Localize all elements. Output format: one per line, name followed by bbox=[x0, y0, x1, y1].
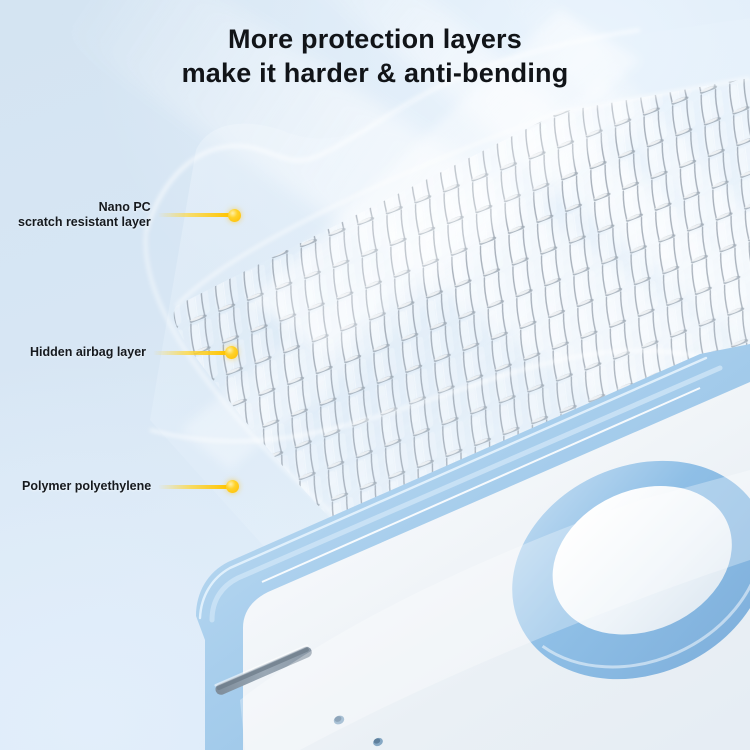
callout-polymer-polyethylene-text: Polymer polyethylene bbox=[22, 479, 151, 494]
callout-hidden-airbag-marker-dot bbox=[225, 346, 238, 359]
callout-hidden-airbag-line-1: Hidden airbag layer bbox=[30, 345, 146, 360]
callout-nano-pc: Nano PC scratch resistant layer bbox=[18, 200, 241, 230]
callout-polymer-polyethylene-leader-line bbox=[158, 485, 228, 489]
callout-polymer-polyethylene-marker-dot bbox=[226, 480, 239, 493]
background-gradient bbox=[0, 0, 750, 750]
callout-polymer-polyethylene: Polymer polyethylene bbox=[22, 479, 239, 494]
headline-line-1: More protection layers bbox=[0, 22, 750, 56]
callout-hidden-airbag-leader-line bbox=[153, 351, 227, 355]
page-title: More protection layers make it harder & … bbox=[0, 22, 750, 90]
callout-nano-pc-line-2: scratch resistant layer bbox=[18, 215, 151, 230]
callout-nano-pc-line-1: Nano PC bbox=[18, 200, 151, 215]
callout-nano-pc-leader-line bbox=[158, 213, 230, 217]
callout-nano-pc-text: Nano PC scratch resistant layer bbox=[18, 200, 151, 230]
callout-polymer-polyethylene-line-1: Polymer polyethylene bbox=[22, 479, 151, 494]
callout-hidden-airbag: Hidden airbag layer bbox=[30, 345, 238, 360]
product-marketing-image: More protection layers make it harder & … bbox=[0, 0, 750, 750]
headline-line-2: make it harder & anti-bending bbox=[0, 56, 750, 90]
callout-nano-pc-marker-dot bbox=[228, 209, 241, 222]
callout-hidden-airbag-text: Hidden airbag layer bbox=[30, 345, 146, 360]
